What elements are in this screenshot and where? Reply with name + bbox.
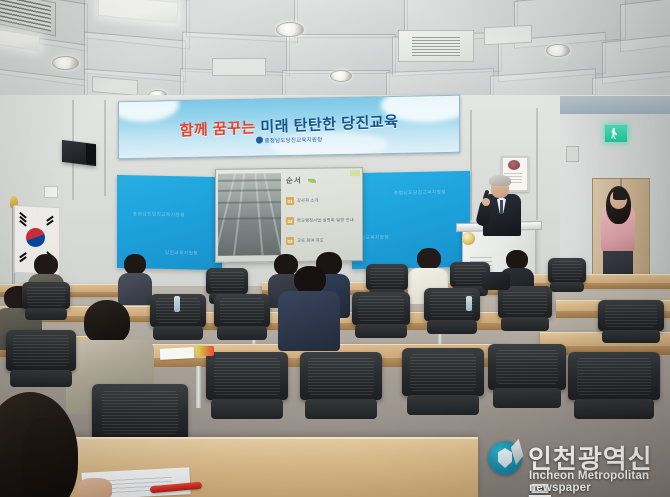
chair-seat [493, 388, 562, 407]
wall-banner: 함께 꿈꾸는 미래 탄탄한 당진교육 충청남도당진교육지원청 [118, 95, 460, 160]
chair-seat [305, 399, 377, 419]
right-wall-trim [560, 96, 670, 114]
office-chair[interactable] [214, 294, 270, 348]
chair-back [352, 292, 410, 325]
chair-back [92, 384, 188, 441]
banner-text-dark: 미래 탄탄한 당진교육 [260, 113, 398, 136]
chair-back [6, 330, 76, 371]
agenda-number: 02 [286, 217, 294, 225]
office-chair[interactable] [598, 300, 664, 350]
ceiling-access-hatch [484, 25, 532, 46]
office-chair[interactable] [498, 286, 552, 338]
office-chair[interactable] [22, 282, 70, 326]
chair-seat [427, 320, 476, 334]
chair-seat [25, 308, 67, 319]
agenda-number: 01 [286, 197, 294, 205]
standing-woman-skirt [603, 248, 633, 274]
agenda-label: 교육 참여 유도 [297, 238, 324, 244]
office-chair[interactable] [568, 352, 660, 430]
chair-seat [10, 370, 72, 387]
office-chair[interactable] [300, 352, 382, 430]
chair-seat [602, 330, 660, 343]
chair-back [214, 294, 270, 327]
chair-seat [211, 399, 283, 419]
emergency-exit-icon [604, 124, 628, 143]
slide-corner-accent [350, 170, 360, 176]
chair-back [206, 352, 288, 400]
chair-back [568, 352, 660, 400]
colored-item [196, 346, 214, 356]
chair-seat [407, 395, 479, 415]
bag [482, 272, 510, 290]
chair-back [598, 300, 664, 331]
water-bottle [174, 296, 180, 312]
slide-heading: 순서 [286, 175, 302, 186]
speaker-hand [482, 198, 490, 206]
poster-image [508, 160, 520, 170]
audience-person [118, 254, 152, 302]
taeguk-symbol-icon [26, 228, 45, 247]
chair-back [402, 348, 484, 396]
slide-agenda-item: 01 강사자 소개 [286, 197, 319, 205]
chair-back [498, 286, 552, 318]
slide-agenda-item: 03 교육 참여 유도 [286, 237, 324, 245]
ceiling-downlight [276, 22, 304, 37]
watermark-english-text: Incheon Metropolitan newspaper [529, 470, 666, 494]
chair-seat [501, 317, 549, 331]
audience-person [278, 266, 340, 348]
foreground-person-hair-strand [22, 418, 68, 497]
paper-stack [160, 347, 195, 360]
office-chair[interactable] [402, 348, 484, 426]
office-chair[interactable] [206, 352, 288, 430]
slide-photo [218, 173, 281, 256]
leaf-icon [308, 179, 316, 183]
banner-logo-text: 충청남도당진교육지원청 [265, 137, 323, 144]
chair-seat [550, 282, 583, 292]
ceiling-ac-diffuser [398, 30, 474, 62]
speaker-tie [500, 200, 503, 214]
foreground-hand [78, 478, 112, 497]
speaker-hair [489, 175, 511, 186]
panel-watermark-text: 당진교육지원청 [165, 250, 198, 257]
photo-scene: 함께 꿈꾸는 미래 탄탄한 당진교육 충청남도당진교육지원청 충청남도당진교육지… [0, 0, 670, 497]
agenda-number: 03 [286, 237, 294, 245]
wall-speaker-side [86, 143, 96, 164]
agenda-label: 학교행정사업 설명회 일정 안내 [297, 217, 354, 224]
chair-back [206, 268, 248, 294]
chair-back [300, 352, 382, 400]
chair-back [548, 258, 586, 283]
office-chair[interactable] [6, 330, 76, 396]
chair-back [366, 264, 408, 290]
slide-agenda-item: 02 학교행정사업 설명회 일정 안내 [286, 216, 354, 225]
office-chair[interactable] [352, 292, 410, 346]
banner-logo-mark [256, 137, 263, 144]
panel-watermark-text: 충청남도당진교육지원청 [394, 189, 446, 196]
panel-watermark-text: 충청남도당진교육지원청 [133, 211, 185, 218]
standing-woman-hair-front [613, 188, 627, 200]
ceiling-downlight [330, 70, 352, 82]
agenda-label: 강사자 소개 [297, 198, 319, 204]
desk-leg [196, 366, 201, 408]
chair-seat [355, 324, 406, 338]
ceiling-downlight [546, 44, 570, 57]
ceiling-downlight [52, 56, 79, 70]
office-chair[interactable] [488, 344, 566, 418]
wall-outlet [44, 186, 58, 198]
chair-seat [574, 399, 655, 419]
office-chair[interactable] [548, 258, 586, 298]
water-bottle [466, 296, 472, 311]
ceiling-access-hatch [212, 58, 266, 76]
chair-back [22, 282, 70, 309]
projection-screen: 순서 01 강사자 소개 02 학교행정사업 설명회 일정 안내 03 교육 참… [215, 167, 363, 263]
podium-emblem-icon [462, 232, 475, 245]
chair-seat [153, 326, 202, 340]
chair-back [488, 344, 566, 390]
wall-fixture [566, 146, 579, 162]
chair-seat [217, 326, 266, 340]
newspaper-watermark: 인천광역신문 Incheon Metropolitan newspaper [488, 437, 666, 489]
